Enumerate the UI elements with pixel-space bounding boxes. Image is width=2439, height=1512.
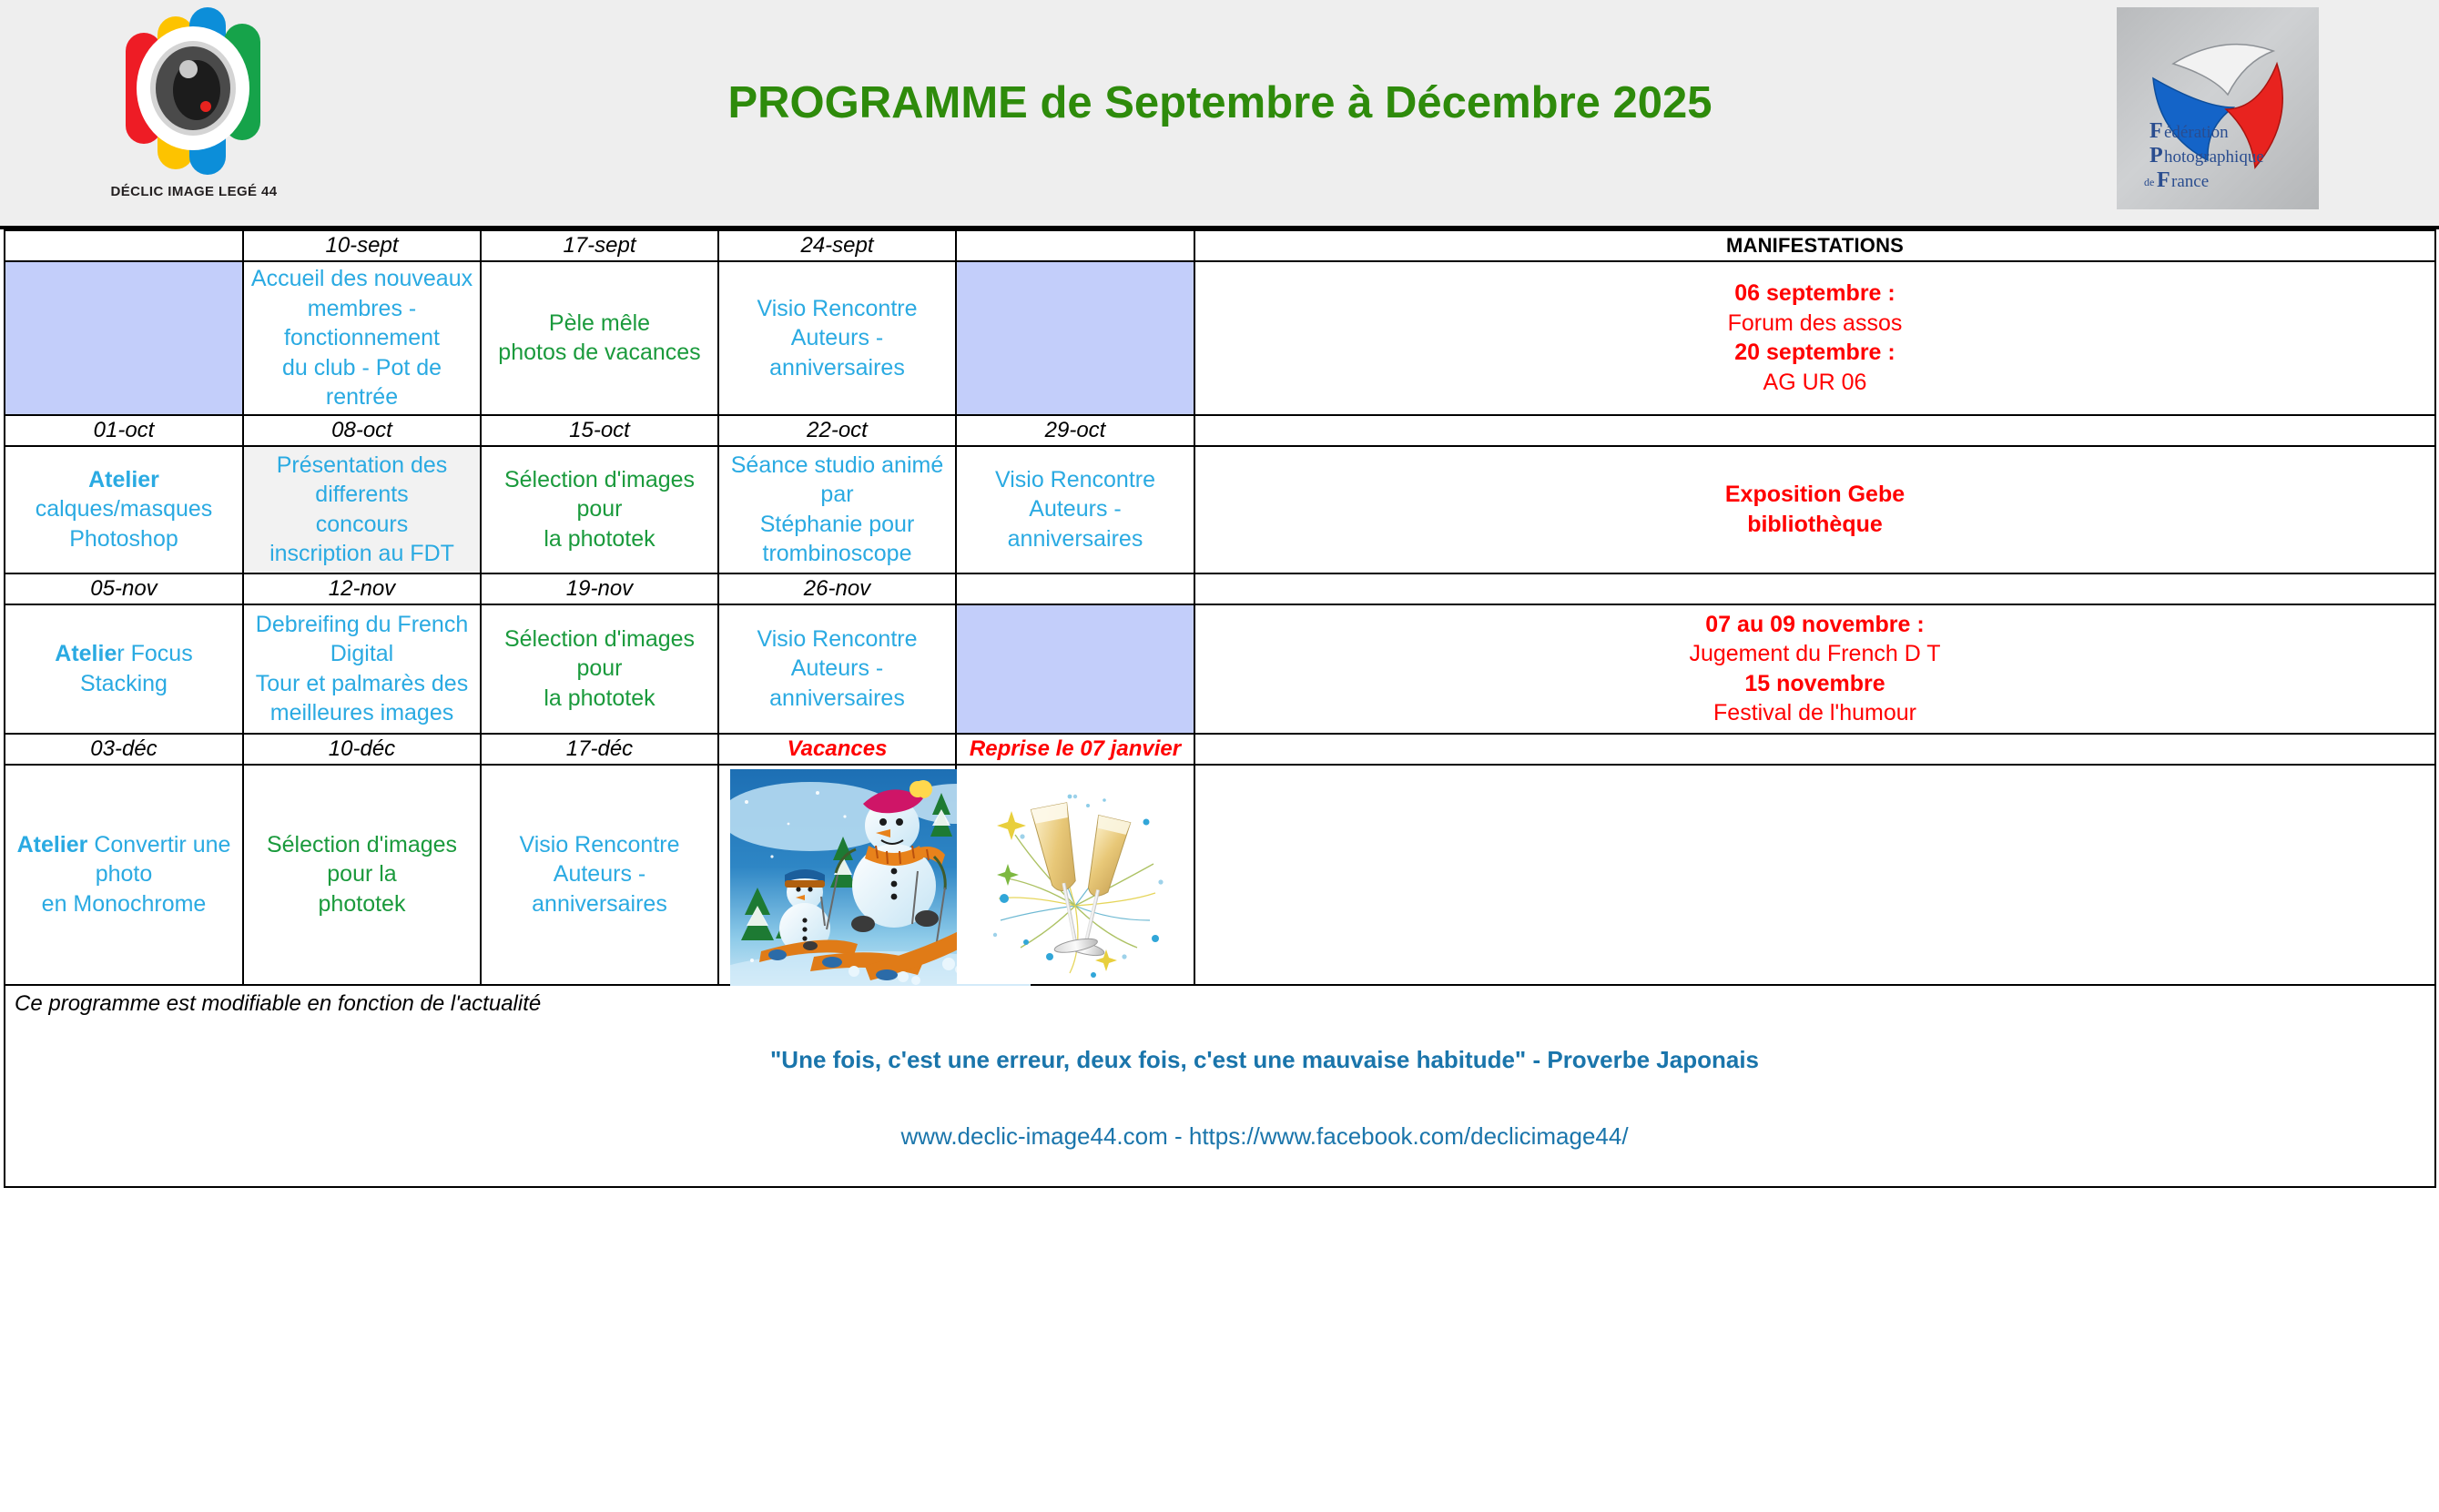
date-cell-empty-nov — [956, 573, 1194, 604]
date-cell-17-sept: 17-sept — [481, 230, 718, 261]
cell-text: Séance studio animé parStéphanie pourtro… — [731, 452, 943, 567]
date-cell-10-dec: 10-déc — [243, 734, 481, 765]
programme-table: 10-sept 17-sept 24-sept MANIFESTATIONS A… — [4, 229, 2436, 1188]
svg-text:édération: édération — [2164, 123, 2229, 142]
cell-sept-24: Visio Rencontre Auteurs -anniversaires — [718, 261, 956, 415]
date-cell-15-oct: 15-oct — [481, 415, 718, 446]
cell-nov-05: Atelier Focus Stacking — [5, 604, 243, 734]
cell-sept-17: Pèle mêlephotos de vacances — [481, 261, 718, 415]
page-title: PROGRAMME de Septembre à Décembre 2025 — [692, 77, 1748, 128]
page-header: DÉCLIC IMAGE LEGÉ 44 PROGRAMME de Septem… — [0, 0, 2439, 229]
cell-text: Exposition Gebebibliothèque — [1725, 482, 1905, 537]
manif-detail: AG UR 06 — [1201, 368, 2429, 398]
cell-text: Debreifing du French DigitalTour et palm… — [256, 612, 468, 726]
date-cell-empty-dec — [1194, 734, 2435, 765]
date-cell-29-oct: 29-oct — [956, 415, 1194, 446]
date-cell-empty-oct — [1194, 415, 2435, 446]
svg-text:F: F — [2157, 168, 2170, 192]
cell-text: Sélection d'images pourla phototek — [504, 467, 695, 552]
cell-text: Sélection d'images pourla phototek — [504, 626, 695, 711]
date-row-november: 05-nov 12-nov 19-nov 26-nov — [5, 573, 2435, 604]
cell-nov-19: Sélection d'images pourla phototek — [481, 604, 718, 734]
cell-text: Pèle mêlephotos de vacances — [498, 310, 700, 366]
date-cell-12-nov: 12-nov — [243, 573, 481, 604]
manif-date: 07 au 09 novembre : — [1201, 610, 2429, 640]
champagne-glasses-picture — [968, 769, 1183, 984]
cell-sept-filler — [5, 261, 243, 415]
cell-nov-filler — [956, 604, 1194, 734]
cell-oct-01: Atelier calques/masquesPhotoshop — [5, 446, 243, 573]
date-cell-05-nov: 05-nov — [5, 573, 243, 604]
cell-text: Visio Rencontre Auteurs -anniversaires — [757, 626, 917, 711]
atelier-label: Atelier — [88, 467, 159, 492]
date-row-december: 03-déc 10-déc 17-déc Vacances Reprise le… — [5, 734, 2435, 765]
footer-quote: "Une fois, c'est une erreur, deux fois, … — [5, 1046, 2433, 1074]
shutter-blades-icon: F édération P hotographique de F rance — [2117, 7, 2319, 209]
footer-note: Ce programme est modifiable en fonction … — [15, 991, 541, 1017]
cell-sept-manifestations: 06 septembre : Forum des assos 20 septem… — [1194, 261, 2435, 415]
content-row-december: Atelier Convertir une photoen Monochrome… — [5, 765, 2435, 985]
manif-date: 06 septembre : — [1201, 279, 2429, 309]
cell-nov-26: Visio Rencontre Auteurs -anniversaires — [718, 604, 956, 734]
date-cell-empty — [5, 230, 243, 261]
cell-dec-03: Atelier Convertir une photoen Monochrome — [5, 765, 243, 985]
content-row-october: Atelier calques/masquesPhotoshop Présent… — [5, 446, 2435, 573]
date-cell-vacances: Vacances — [718, 734, 956, 765]
date-row-september: 10-sept 17-sept 24-sept MANIFESTATIONS — [5, 230, 2435, 261]
cell-text: calques/masquesPhotoshop — [36, 496, 213, 552]
cell-dec-manifestations-empty — [1194, 765, 2435, 985]
date-cell-01-oct: 01-oct — [5, 415, 243, 446]
date-cell-19-nov: 19-nov — [481, 573, 718, 604]
date-cell-reprise: Reprise le 07 janvier — [956, 734, 1194, 765]
manifestations-header: MANIFESTATIONS — [1194, 230, 2435, 261]
cell-sept-10: Accueil des nouveauxmembres - fonctionne… — [243, 261, 481, 415]
footer-cell: Ce programme est modifiable en fonction … — [5, 985, 2435, 1187]
cell-text: Présentation des differentsconcoursinscr… — [269, 452, 454, 567]
manif-date: 15 novembre — [1201, 669, 2429, 699]
cell-dec-vacances-image — [718, 765, 956, 985]
date-cell-empty-2 — [956, 230, 1194, 261]
manif-date: 20 septembre : — [1201, 338, 2429, 368]
date-cell-24-sept: 24-sept — [718, 230, 956, 261]
champagne-toast-illustration-icon — [968, 769, 1183, 984]
cell-nov-12: Debreifing du French DigitalTour et palm… — [243, 604, 481, 734]
footer-links[interactable]: www.declic-image44.com - https://www.fac… — [5, 1122, 2433, 1151]
date-cell-08-oct: 08-oct — [243, 415, 481, 446]
svg-text:P: P — [2149, 144, 2163, 167]
cell-text: Visio Rencontre Auteurs -anniversaires — [757, 296, 917, 381]
content-row-september: Accueil des nouveauxmembres - fonctionne… — [5, 261, 2435, 415]
programme-page: DÉCLIC IMAGE LEGÉ 44 PROGRAMME de Septem… — [0, 0, 2439, 1512]
fpf-federation-logo: F édération P hotographique de F rance — [2117, 7, 2319, 209]
cell-dec-10: Sélection d'images pour laphototek — [243, 765, 481, 985]
date-cell-03-dec: 03-déc — [5, 734, 243, 765]
date-cell-10-sept: 10-sept — [243, 230, 481, 261]
cell-oct-08: Présentation des differentsconcoursinscr… — [243, 446, 481, 573]
cell-oct-22: Séance studio animé parStéphanie pourtro… — [718, 446, 956, 573]
manif-detail: Jugement du French D T — [1201, 639, 2429, 669]
atelier-label: Atelier — [17, 832, 88, 857]
content-row-november: Atelier Focus Stacking Debreifing du Fre… — [5, 604, 2435, 734]
date-cell-17-dec: 17-déc — [481, 734, 718, 765]
manif-detail: Forum des assos — [1201, 309, 2429, 339]
cell-text: Accueil des nouveauxmembres - fonctionne… — [251, 266, 473, 410]
date-cell-empty-nov-2 — [1194, 573, 2435, 604]
cell-text: Visio Rencontre Auteurs -anniversaires — [995, 467, 1155, 552]
svg-text:F: F — [2149, 119, 2163, 143]
date-cell-22-oct: 22-oct — [718, 415, 956, 446]
date-cell-26-nov: 26-nov — [718, 573, 956, 604]
svg-text:de: de — [2144, 176, 2154, 188]
cell-dec-17: Visio Rencontre Auteurs -anniversaires — [481, 765, 718, 985]
svg-text:hotographique: hotographique — [2164, 147, 2264, 167]
date-row-october: 01-oct 08-oct 15-oct 22-oct 29-oct — [5, 415, 2435, 446]
cell-sept-filler-2 — [956, 261, 1194, 415]
cell-oct-29: Visio Rencontre Auteurs -anniversaires — [956, 446, 1194, 573]
cell-nov-manifestations: 07 au 09 novembre : Jugement du French D… — [1194, 604, 2435, 734]
cell-oct-15: Sélection d'images pourla phototek — [481, 446, 718, 573]
cell-text: Sélection d'images pour laphototek — [267, 832, 457, 917]
footer-row: Ce programme est modifiable en fonction … — [5, 985, 2435, 1187]
manif-detail: Festival de l'humour — [1201, 698, 2429, 728]
atelier-label: Atelie — [55, 641, 117, 666]
svg-text:rance: rance — [2171, 172, 2209, 191]
club-logo: DÉCLIC IMAGE LEGÉ 44 — [109, 4, 279, 222]
cell-dec-reprise-image — [956, 765, 1194, 985]
camera-lens-logo-icon — [109, 4, 279, 182]
cell-oct-manifestations: Exposition Gebebibliothèque — [1194, 446, 2435, 573]
cell-text: Visio Rencontre Auteurs -anniversaires — [519, 832, 679, 917]
logo-caption: DÉCLIC IMAGE LEGÉ 44 — [109, 184, 279, 199]
